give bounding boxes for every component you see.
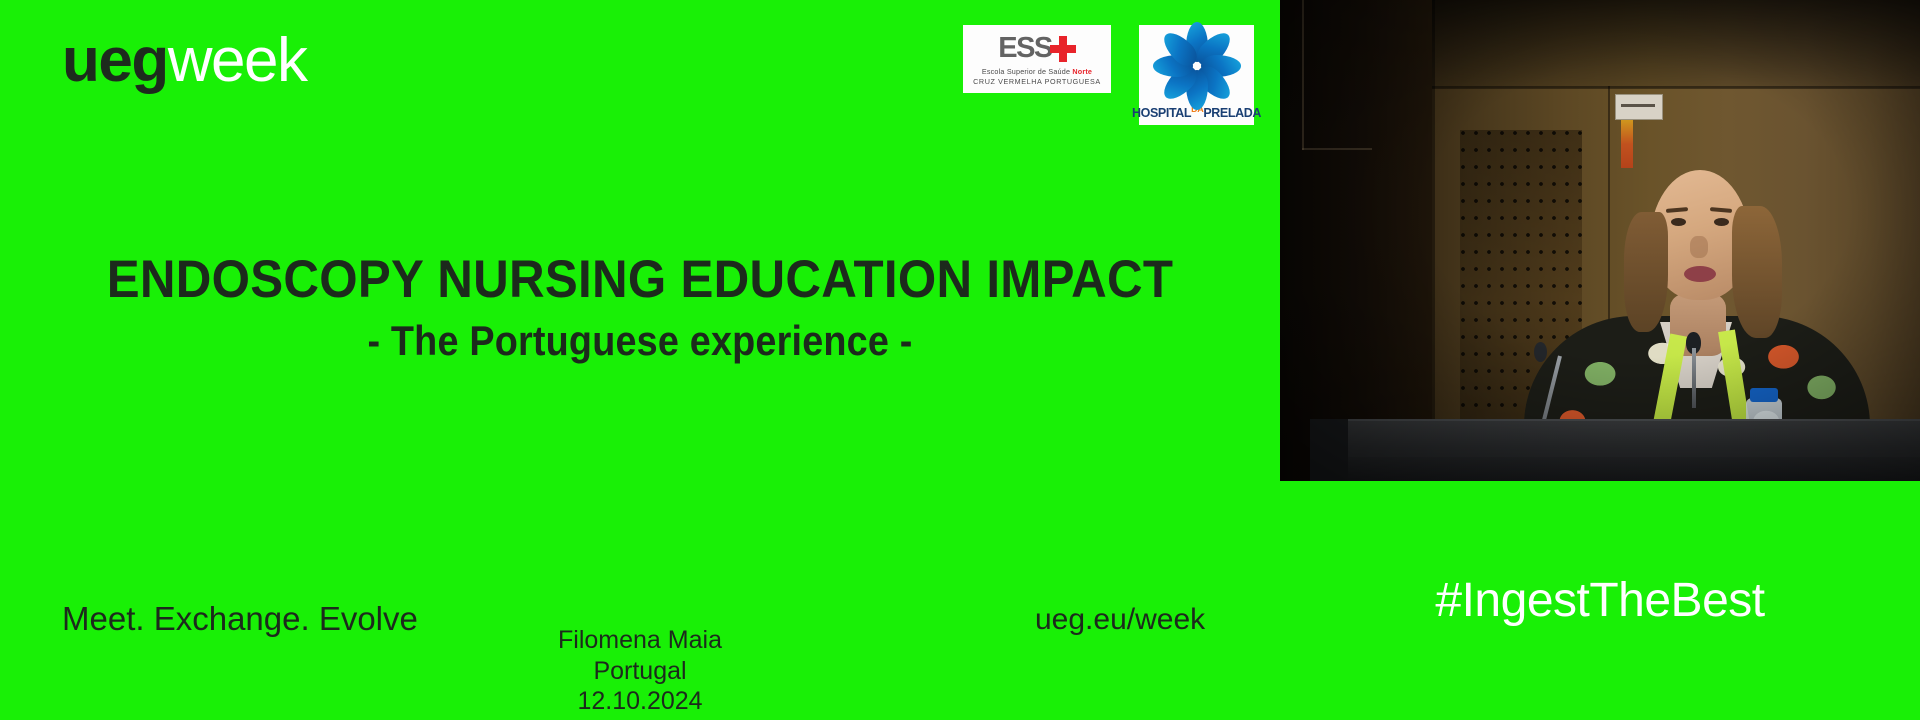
logo-text-ueg: ueg	[62, 26, 168, 95]
event-hashtag-area: #IngestTheBest	[1280, 481, 1920, 720]
hospital-da-prelada-logo: HOSPITALDAPRELADA	[1139, 25, 1254, 125]
prelada-text-part1: HOSPITAL	[1132, 106, 1191, 120]
right-column: #IngestTheBest	[1280, 0, 1920, 720]
lectern	[1310, 419, 1920, 481]
presenter-country: Portugal	[0, 656, 1280, 687]
partner-logo-group: ESS Escola Superior de Saúde Norte CRUZ …	[963, 25, 1254, 125]
ess-subtitle-line1: Escola Superior de Saúde Norte	[982, 67, 1092, 76]
wall-seam-horizontal	[1432, 86, 1920, 89]
ess-logo: ESS Escola Superior de Saúde Norte CRUZ …	[963, 25, 1111, 93]
ess-mark: ESS	[998, 34, 1076, 64]
ess-subtitle-line2: CRUZ VERMELHA PORTUGUESA	[973, 77, 1101, 86]
ess-subtitle-text: Escola Superior de Saúde	[982, 67, 1073, 76]
page-subtitle: - The Portuguese experience -	[64, 318, 1216, 364]
lectern-front	[1310, 457, 1920, 481]
microphone-stand-2	[1692, 348, 1696, 408]
wall-seam-vertical	[1432, 0, 1435, 481]
presentation-date: 12.10.2024	[0, 686, 1280, 717]
hair-left	[1624, 212, 1668, 332]
mouth	[1684, 266, 1716, 282]
flower-petal-icon	[1160, 31, 1234, 101]
eye-left	[1671, 218, 1686, 226]
wall-door-edge2	[1302, 148, 1372, 150]
ess-letters: ESS	[998, 34, 1052, 63]
red-cross-icon	[1050, 36, 1076, 62]
wall-dark-section	[1280, 0, 1432, 481]
ueg-week-logo: uegweek	[62, 30, 306, 92]
eye-right	[1714, 218, 1729, 226]
wall-door-edge	[1302, 0, 1304, 150]
wall-sign	[1615, 94, 1663, 120]
event-website-link[interactable]: ueg.eu/week	[1035, 603, 1205, 637]
water-bottle-cap	[1750, 388, 1778, 402]
lectern-side	[1310, 419, 1348, 481]
page-title: ENDOSCOPY NURSING EDUCATION IMPACT	[45, 252, 1235, 308]
speaker-video-feed[interactable]	[1280, 0, 1920, 481]
nose	[1690, 236, 1708, 258]
presentation-stage: uegweek ESS Escola Superior de Saúde Nor…	[0, 0, 1920, 720]
ess-subtitle-highlight: Norte	[1072, 67, 1092, 76]
title-block: ENDOSCOPY NURSING EDUCATION IMPACT - The…	[0, 252, 1280, 364]
prelada-text-part2: PRELADA	[1203, 106, 1261, 120]
event-hashtag: #IngestTheBest	[1435, 573, 1764, 628]
logo-text-week: week	[168, 26, 307, 95]
microphone-head	[1534, 342, 1547, 362]
slide-area: uegweek ESS Escola Superior de Saúde Nor…	[0, 0, 1280, 720]
presenter-info: Filomena Maia Portugal 12.10.2024	[0, 625, 1280, 717]
hair-right	[1732, 206, 1782, 338]
